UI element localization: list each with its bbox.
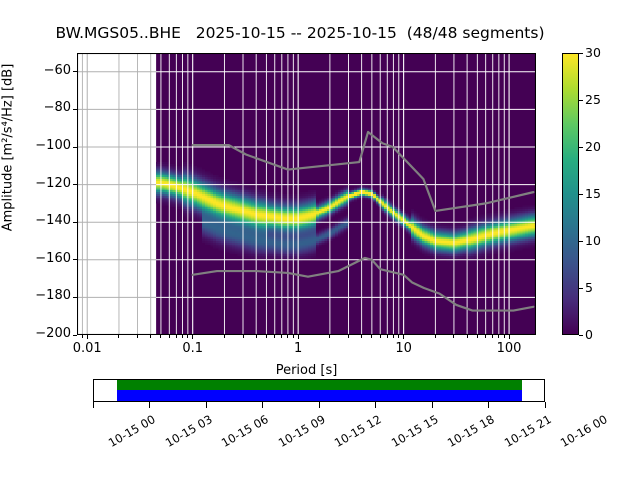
x-tick-label: 10 <box>364 341 444 356</box>
colorbar-tick <box>579 194 583 195</box>
timeline-tick <box>206 402 207 408</box>
timeline-date-label: 10-15 12 <box>332 412 384 450</box>
y-tick-label: −160 <box>15 251 71 266</box>
x-tick <box>87 335 88 339</box>
x-tick <box>298 335 299 339</box>
y-tick <box>73 184 77 185</box>
x-minor-tick <box>243 335 244 338</box>
timeline-date-label: 10-16 00 <box>558 412 610 450</box>
x-minor-tick <box>398 335 399 338</box>
y-tick <box>73 222 77 223</box>
x-minor-tick <box>287 335 288 338</box>
timeline-date-label: 10-15 06 <box>219 412 271 450</box>
x-minor-tick <box>485 335 486 338</box>
y-tick-label: −180 <box>15 288 71 303</box>
x-minor-tick <box>361 335 362 338</box>
y-tick <box>73 109 77 110</box>
timeline-tick <box>432 402 433 408</box>
y-tick <box>73 335 77 336</box>
y-tick-label: −140 <box>15 213 71 228</box>
x-minor-tick <box>435 335 436 338</box>
y-tick-label: −80 <box>15 100 71 115</box>
y-axis-title: Amplitude [m²/s⁴/Hz] [dB] <box>1 18 16 278</box>
colorbar-tick <box>579 241 583 242</box>
y-tick-label: −120 <box>15 176 71 191</box>
x-minor-tick <box>281 335 282 338</box>
colorbar-tick <box>579 100 583 101</box>
colorbar-tick <box>579 288 583 289</box>
x-minor-tick <box>224 335 225 338</box>
x-minor-tick <box>393 335 394 338</box>
y-tick <box>73 297 77 298</box>
x-tick-label: 0.01 <box>47 341 127 356</box>
y-tick <box>73 147 77 148</box>
x-minor-tick <box>150 335 151 338</box>
timeline-date-label: 10-15 09 <box>275 412 327 450</box>
plot-area <box>77 53 536 335</box>
y-tick <box>73 71 77 72</box>
timeline-coverage-box[interactable] <box>93 379 545 402</box>
timeline-tick <box>319 402 320 408</box>
x-minor-tick <box>387 335 388 338</box>
x-tick <box>192 335 193 339</box>
x-tick-label: 0.1 <box>153 341 233 356</box>
colorbar-tick <box>579 147 583 148</box>
colorbar-tick-label: 10 <box>585 233 615 248</box>
x-minor-tick <box>137 335 138 338</box>
colorbar-tick-label: 0 <box>585 327 615 342</box>
x-minor-tick <box>467 335 468 338</box>
x-minor-tick <box>160 335 161 338</box>
colorbar-tick-label: 15 <box>585 186 615 201</box>
x-minor-tick <box>348 335 349 338</box>
x-minor-tick <box>492 335 493 338</box>
x-minor-tick <box>504 335 505 338</box>
ppsd-histogram <box>77 53 536 335</box>
colorbar-tick-label: 30 <box>585 45 615 60</box>
x-minor-tick <box>256 335 257 338</box>
figure-title: BW.MGS05..BHE 2025-10-15 -- 2025-10-15 (… <box>0 24 600 42</box>
timeline-tick <box>149 402 150 408</box>
x-minor-tick <box>371 335 372 338</box>
y-tick-label: −200 <box>15 326 71 341</box>
x-minor-tick <box>82 335 83 338</box>
colorbar-gradient <box>563 54 578 334</box>
timeline-tick <box>262 402 263 408</box>
x-tick-label: 100 <box>469 341 549 356</box>
timeline-tick <box>488 402 489 408</box>
x-axis-title: Period [s] <box>77 363 536 378</box>
x-minor-tick <box>498 335 499 338</box>
timeline-tick <box>545 402 546 408</box>
timeline-date-label: 10-15 15 <box>388 412 440 450</box>
colorbar-tick <box>579 53 583 54</box>
x-minor-tick <box>169 335 170 338</box>
x-tick <box>509 335 510 339</box>
timeline-date-label: 10-15 18 <box>445 412 497 450</box>
x-tick <box>403 335 404 339</box>
x-minor-tick <box>266 335 267 338</box>
timeline-tick <box>375 402 376 408</box>
x-minor-tick <box>329 335 330 338</box>
colorbar-tick-label: 20 <box>585 139 615 154</box>
x-minor-tick <box>274 335 275 338</box>
timeline-date-label: 10-15 21 <box>501 412 553 450</box>
colorbar-tick <box>579 335 583 336</box>
timeline-date-label: 10-15 03 <box>162 412 214 450</box>
x-minor-tick <box>187 335 188 338</box>
x-tick-label: 1 <box>258 341 338 356</box>
x-minor-tick <box>293 335 294 338</box>
ppsd-figure: BW.MGS05..BHE 2025-10-15 -- 2025-10-15 (… <box>0 0 640 480</box>
y-tick <box>73 259 77 260</box>
x-minor-tick <box>477 335 478 338</box>
timeline-green-bar <box>117 380 522 390</box>
timeline-tick <box>93 402 94 408</box>
x-minor-tick <box>453 335 454 338</box>
colorbar-tick-label: 25 <box>585 92 615 107</box>
timeline-date-label: 10-15 00 <box>106 412 158 450</box>
colorbar <box>562 53 579 335</box>
x-minor-tick <box>118 335 119 338</box>
colorbar-tick-label: 5 <box>585 280 615 295</box>
x-minor-tick <box>176 335 177 338</box>
x-minor-tick <box>182 335 183 338</box>
y-tick-label: −100 <box>15 138 71 153</box>
x-minor-tick <box>380 335 381 338</box>
timeline-blue-bar <box>117 390 522 401</box>
y-tick-label: −60 <box>15 63 71 78</box>
